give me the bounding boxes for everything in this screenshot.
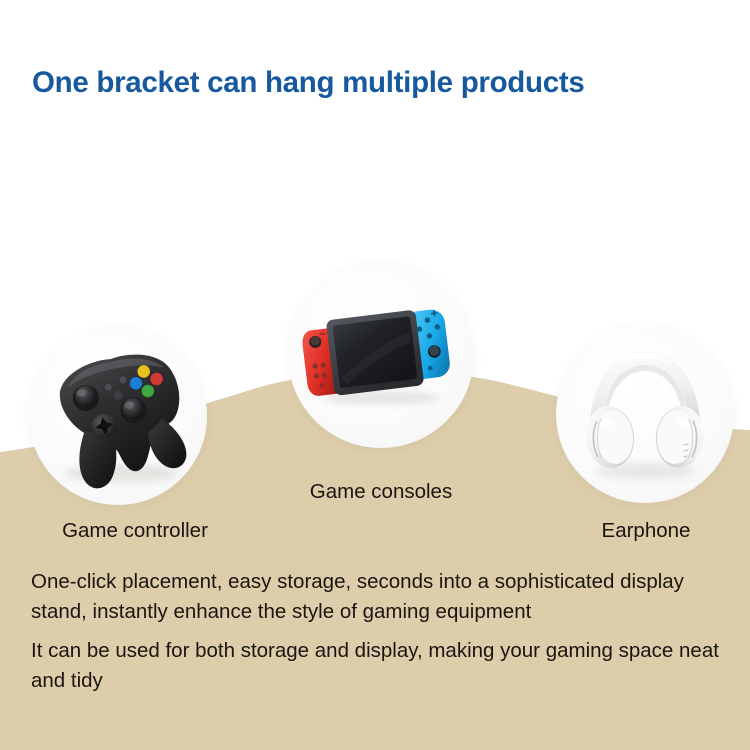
- product-label-game-controller: Game controller: [0, 519, 270, 543]
- nintendo-switch-icon: [288, 262, 474, 448]
- xbox-controller-icon: [29, 327, 207, 505]
- description-block: One-click placement, easy storage, secon…: [31, 567, 721, 696]
- headphones-icon: [556, 325, 734, 503]
- product-circle-game-controller: [29, 327, 207, 505]
- product-circle-earphone: [556, 325, 734, 503]
- description-paragraph-2: It can be used for both storage and disp…: [31, 636, 721, 696]
- product-infographic: One bracket can hang multiple products: [0, 0, 750, 750]
- product-label-game-consoles: Game consoles: [246, 480, 516, 504]
- page-title: One bracket can hang multiple products: [32, 66, 585, 100]
- product-label-earphone: Earphone: [511, 519, 750, 543]
- description-paragraph-1: One-click placement, easy storage, secon…: [31, 567, 721, 627]
- product-circle-game-consoles: [288, 262, 474, 448]
